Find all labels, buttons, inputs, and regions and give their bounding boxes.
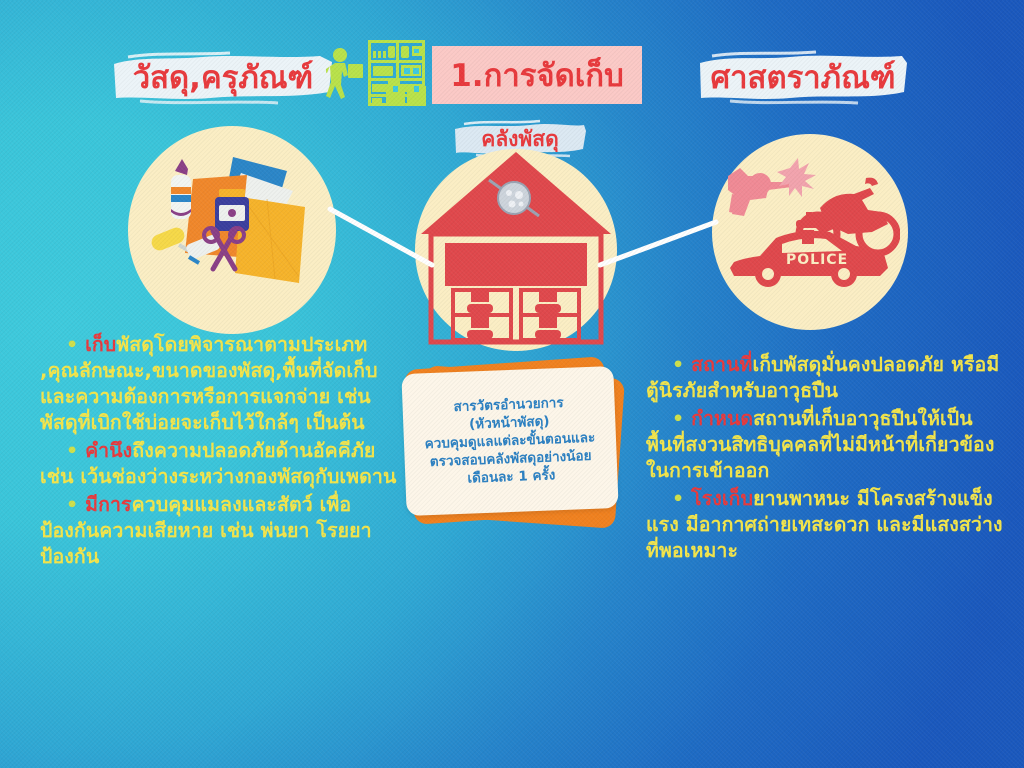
- list-item: • คำนึงถึงความปลอดภัยด้านอัคคีภัย เช่น เ…: [40, 438, 410, 490]
- bullet-dot: •: [672, 408, 684, 430]
- page-title: 1.การจัดเก็บ: [432, 46, 642, 104]
- highlight-word: โรงเก็บ: [691, 487, 753, 510]
- right-bullet-list: • สถานที่เก็บพัสดุมั่นคงปลอดภัย หรือมีตู…: [646, 352, 1008, 566]
- revolver-icon: [728, 168, 792, 216]
- weapons-vehicles-circle: POLICE: [712, 134, 908, 330]
- list-item: • โรงเก็บยานพาหนะ มีโครงสร้างแข็งแรง มีอ…: [646, 486, 1008, 564]
- weapons-vehicles-icon: POLICE: [720, 142, 900, 322]
- warehouse-building-icon: [415, 150, 617, 352]
- office-supplies-icon: [137, 135, 327, 325]
- list-item: • มีการควบคุมแมลงและสัตว์ เพื่อป้องกันคว…: [40, 492, 410, 570]
- list-item: • กำหนดสถานที่เก็บอาวุธปืนให้เป็นพื้นที่…: [646, 406, 1008, 484]
- label-materials-equipment-text: วัสดุ,ครุภัณฑ์: [133, 52, 314, 102]
- warehouse-circle: [415, 149, 617, 351]
- highlight-word: เก็บ: [85, 333, 116, 356]
- supervisor-note-card: สารวัตรอำนวยการ (หัวหน้าพัสดุ) ควบคุมดูแ…: [401, 366, 618, 516]
- label-warehouse-text: คลังพัสดุ: [481, 123, 558, 156]
- bullet-dot: •: [672, 488, 684, 510]
- left-bullet-list: • เก็บพัสดุโดยพิจารณาตามประเภท ,คุณลักษณ…: [40, 332, 410, 572]
- highlight-word: คำนึง: [85, 439, 132, 462]
- list-item: • สถานที่เก็บพัสดุมั่นคงปลอดภัย หรือมีตู…: [646, 352, 1008, 404]
- bullet-dot: •: [66, 334, 78, 356]
- bullet-dot: •: [672, 354, 684, 376]
- label-weapons-assets-text: ศาสตราภัณฑ์: [710, 52, 895, 102]
- list-item: • เก็บพัสดุโดยพิจารณาตามประเภท ,คุณลักษณ…: [40, 332, 410, 436]
- svg-text:POLICE: POLICE: [786, 252, 848, 268]
- supervisor-note-text: สารวัตรอำนวยการ (หัวหน้าพัสดุ) ควบคุมดูแ…: [415, 388, 605, 493]
- highlight-word: สถานที่: [691, 353, 752, 376]
- bullet-dot: •: [66, 494, 78, 516]
- warehouse-shelf-worker-icon: [326, 38, 430, 112]
- page-title-text: 1.การจัดเก็บ: [450, 50, 624, 100]
- label-weapons-assets: ศาสตราภัณฑ์: [696, 48, 910, 106]
- bullet-dot: •: [66, 440, 78, 462]
- office-supplies-circle: [128, 126, 336, 334]
- muzzle-flash-icon: [777, 158, 816, 197]
- highlight-word: กำหนด: [691, 407, 753, 430]
- highlight-word: มีการ: [85, 493, 131, 516]
- label-materials-equipment: วัสดุ,ครุภัณฑ์: [110, 48, 336, 106]
